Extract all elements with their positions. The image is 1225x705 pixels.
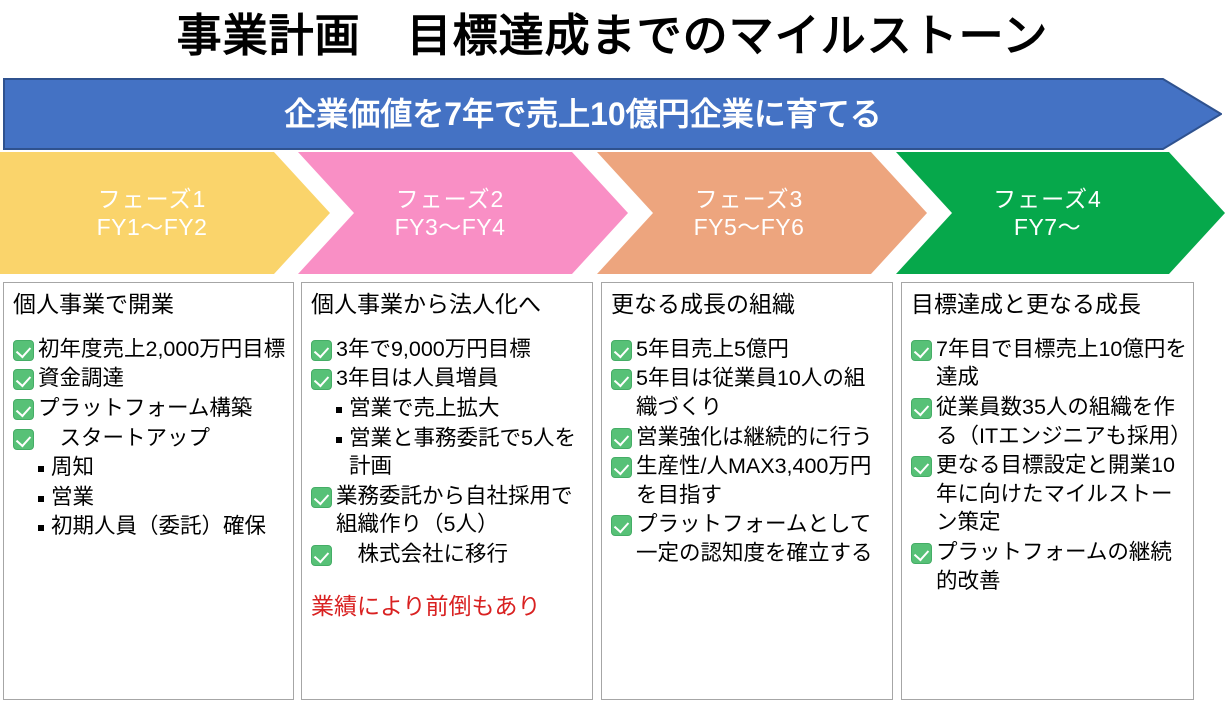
checklist-item-label: 7年目で目標売上10億円を達成 — [936, 335, 1187, 392]
column-items-4: 7年目で目標売上10億円を達成従業員数35人の組織を作る（ITエンジニアも採用）… — [911, 335, 1187, 595]
content-column-1: 個人事業で開業 初年度売上2,000万円目標資金調達プラットフォーム構築 スター… — [3, 282, 294, 700]
checklist-item-label: プラットフォーム構築 — [38, 394, 287, 423]
checklist-item-label: スタートアップ — [38, 424, 287, 453]
goal-banner: 企業価値を7年で売上10億円企業に育てる — [3, 78, 1222, 150]
column-title-4: 目標達成と更なる成長 — [911, 290, 1187, 319]
checkbox-checked-icon[interactable] — [13, 399, 34, 420]
phase-years-2: FY3～FY4 — [395, 213, 506, 241]
checklist-item-label: 3年目は人員増員 — [336, 364, 586, 393]
checklist-item[interactable]: 初年度売上2,000万円目標 — [13, 335, 287, 364]
sub-bullet-item: 営業で売上拡大 — [311, 394, 586, 423]
checklist-item-label: 従業員数35人の組織を作る（ITエンジニアも採用） — [936, 393, 1187, 450]
column-title-3: 更なる成長の組織 — [611, 290, 886, 319]
checkbox-checked-icon[interactable] — [611, 428, 632, 449]
checklist-item[interactable]: 資金調達 — [13, 364, 287, 393]
checklist-item-label: プラットフォームの継続的改善 — [936, 538, 1187, 595]
column-title-1: 個人事業で開業 — [13, 290, 287, 319]
column-note: 業績により前倒もあり — [311, 593, 586, 621]
checklist-item[interactable]: プラットフォームの継続的改善 — [911, 538, 1187, 595]
phase-name-1: フェーズ1 — [98, 185, 207, 213]
slide-root: 事業計画 目標達成までのマイルストーン 企業価値を7年で売上10億円企業に育てる… — [0, 0, 1225, 705]
checklist-item[interactable]: 営業強化は継続的に行う — [611, 423, 886, 452]
checklist-item-label: 業務委託から自社採用で組織作り（5人） — [336, 482, 586, 539]
checklist-item[interactable]: プラットフォーム構築 — [13, 394, 287, 423]
checklist-item[interactable]: 5年目売上5億円 — [611, 335, 886, 364]
checklist-item[interactable]: 3年で9,000万円目標 — [311, 335, 586, 364]
square-bullet — [336, 437, 342, 443]
goal-banner-text: 企業価値を7年で売上10億円企業に育てる — [3, 78, 1163, 150]
phase-years-3: FY5～FY6 — [694, 213, 805, 241]
column-title-2: 個人事業から法人化へ — [311, 290, 586, 319]
checkbox-checked-icon[interactable] — [911, 340, 932, 361]
sub-bullet-label: 周知 — [51, 453, 287, 482]
checklist-item-label: 初年度売上2,000万円目標 — [38, 335, 287, 364]
phase-chevron-4[interactable]: フェーズ4 FY7～ — [896, 152, 1225, 274]
checkbox-checked-icon[interactable] — [911, 456, 932, 477]
checklist-item[interactable]: プラットフォームとして一定の認知度を確立する — [611, 510, 886, 567]
column-items-2: 3年で9,000万円目標3年目は人員増員営業で売上拡大営業と事務委託で5人を計画… — [311, 335, 586, 620]
sub-bullet-item: 周知 — [13, 453, 287, 482]
content-column-3: 更なる成長の組織 5年目売上5億円5年目は従業員10人の組織づくり営業強化は継続… — [601, 282, 893, 700]
checkbox-checked-icon[interactable] — [911, 543, 932, 564]
content-column-2: 個人事業から法人化へ 3年で9,000万円目標3年目は人員増員営業で売上拡大営業… — [301, 282, 593, 700]
column-items-3: 5年目売上5億円5年目は従業員10人の組織づくり営業強化は継続的に行う生産性/人… — [611, 335, 886, 568]
sub-bullet-label: 営業で売上拡大 — [349, 394, 586, 423]
phase-chevron-3[interactable]: フェーズ3 FY5～FY6 — [597, 152, 927, 274]
checkbox-checked-icon[interactable] — [611, 457, 632, 478]
phase-years-1: FY1～FY2 — [97, 213, 208, 241]
column-items-1: 初年度売上2,000万円目標資金調達プラットフォーム構築 スタートアップ周知営業… — [13, 335, 287, 541]
phase-label-3: フェーズ3 FY5～FY6 — [597, 152, 927, 274]
checklist-item-label: 5年目は従業員10人の組織づくり — [636, 364, 886, 421]
square-bullet — [38, 496, 44, 502]
phase-years-4: FY7～ — [1014, 213, 1081, 241]
checklist-item-label: 3年で9,000万円目標 — [336, 335, 586, 364]
sub-bullet-item: 営業 — [13, 483, 287, 512]
checkbox-checked-icon[interactable] — [611, 515, 632, 536]
checkbox-checked-icon[interactable] — [311, 340, 332, 361]
checklist-item[interactable]: 3年目は人員増員 — [311, 364, 586, 393]
phase-label-1: フェーズ1 FY1～FY2 — [0, 152, 330, 274]
checkbox-checked-icon[interactable] — [311, 545, 332, 566]
phase-name-4: フェーズ4 — [993, 185, 1102, 213]
sub-bullet-label: 初期人員（委託）確保 — [51, 512, 287, 541]
sub-bullet-item: 初期人員（委託）確保 — [13, 512, 287, 541]
checklist-item-label: 生産性/人MAX3,400万円を目指す — [636, 452, 886, 509]
phase-row: フェーズ1 FY1～FY2 フェーズ2 FY3～FY4 フェーズ3 FY5～FY… — [0, 152, 1225, 274]
checklist-item[interactable]: 株式会社に移行 — [311, 540, 586, 569]
square-bullet — [38, 466, 44, 472]
checkbox-checked-icon[interactable] — [911, 398, 932, 419]
content-column-4: 目標達成と更なる成長 7年目で目標売上10億円を達成従業員数35人の組織を作る（… — [901, 282, 1194, 700]
sub-bullet-item: 営業と事務委託で5人を計画 — [311, 424, 586, 481]
square-bullet — [38, 525, 44, 531]
phase-name-2: フェーズ2 — [396, 185, 505, 213]
phase-name-3: フェーズ3 — [695, 185, 804, 213]
sub-bullet-label: 営業と事務委託で5人を計画 — [349, 424, 586, 481]
square-bullet — [336, 407, 342, 413]
checkbox-checked-icon[interactable] — [611, 369, 632, 390]
checkbox-checked-icon[interactable] — [611, 340, 632, 361]
checklist-item[interactable]: 生産性/人MAX3,400万円を目指す — [611, 452, 886, 509]
checklist-item-label: プラットフォームとして一定の認知度を確立する — [636, 510, 886, 567]
content-columns: 個人事業で開業 初年度売上2,000万円目標資金調達プラットフォーム構築 スター… — [0, 282, 1225, 700]
sub-bullet-label: 営業 — [51, 483, 287, 512]
checklist-item[interactable]: 更なる目標設定と開業10年に向けたマイルストーン策定 — [911, 451, 1187, 537]
checkbox-checked-icon[interactable] — [311, 487, 332, 508]
checkbox-checked-icon[interactable] — [13, 429, 34, 450]
checkbox-checked-icon[interactable] — [13, 340, 34, 361]
phase-label-2: フェーズ2 FY3～FY4 — [298, 152, 628, 274]
checklist-item-label: 更なる目標設定と開業10年に向けたマイルストーン策定 — [936, 451, 1187, 537]
checklist-item[interactable]: 業務委託から自社採用で組織作り（5人） — [311, 482, 586, 539]
checkbox-checked-icon[interactable] — [311, 369, 332, 390]
checklist-item[interactable]: 7年目で目標売上10億円を達成 — [911, 335, 1187, 392]
checklist-item-label: 営業強化は継続的に行う — [636, 423, 886, 452]
phase-chevron-1[interactable]: フェーズ1 FY1～FY2 — [0, 152, 330, 274]
checklist-item[interactable]: 従業員数35人の組織を作る（ITエンジニアも採用） — [911, 393, 1187, 450]
page-title: 事業計画 目標達成までのマイルストーン — [0, 4, 1225, 68]
checklist-item-label: 資金調達 — [38, 364, 287, 393]
phase-chevron-2[interactable]: フェーズ2 FY3～FY4 — [298, 152, 628, 274]
phase-label-4: フェーズ4 FY7～ — [896, 152, 1225, 274]
checklist-item[interactable]: 5年目は従業員10人の組織づくり — [611, 364, 886, 421]
checklist-item[interactable]: スタートアップ — [13, 424, 287, 453]
checklist-item-label: 5年目売上5億円 — [636, 335, 886, 364]
checklist-item-label: 株式会社に移行 — [336, 540, 586, 569]
checkbox-checked-icon[interactable] — [13, 369, 34, 390]
